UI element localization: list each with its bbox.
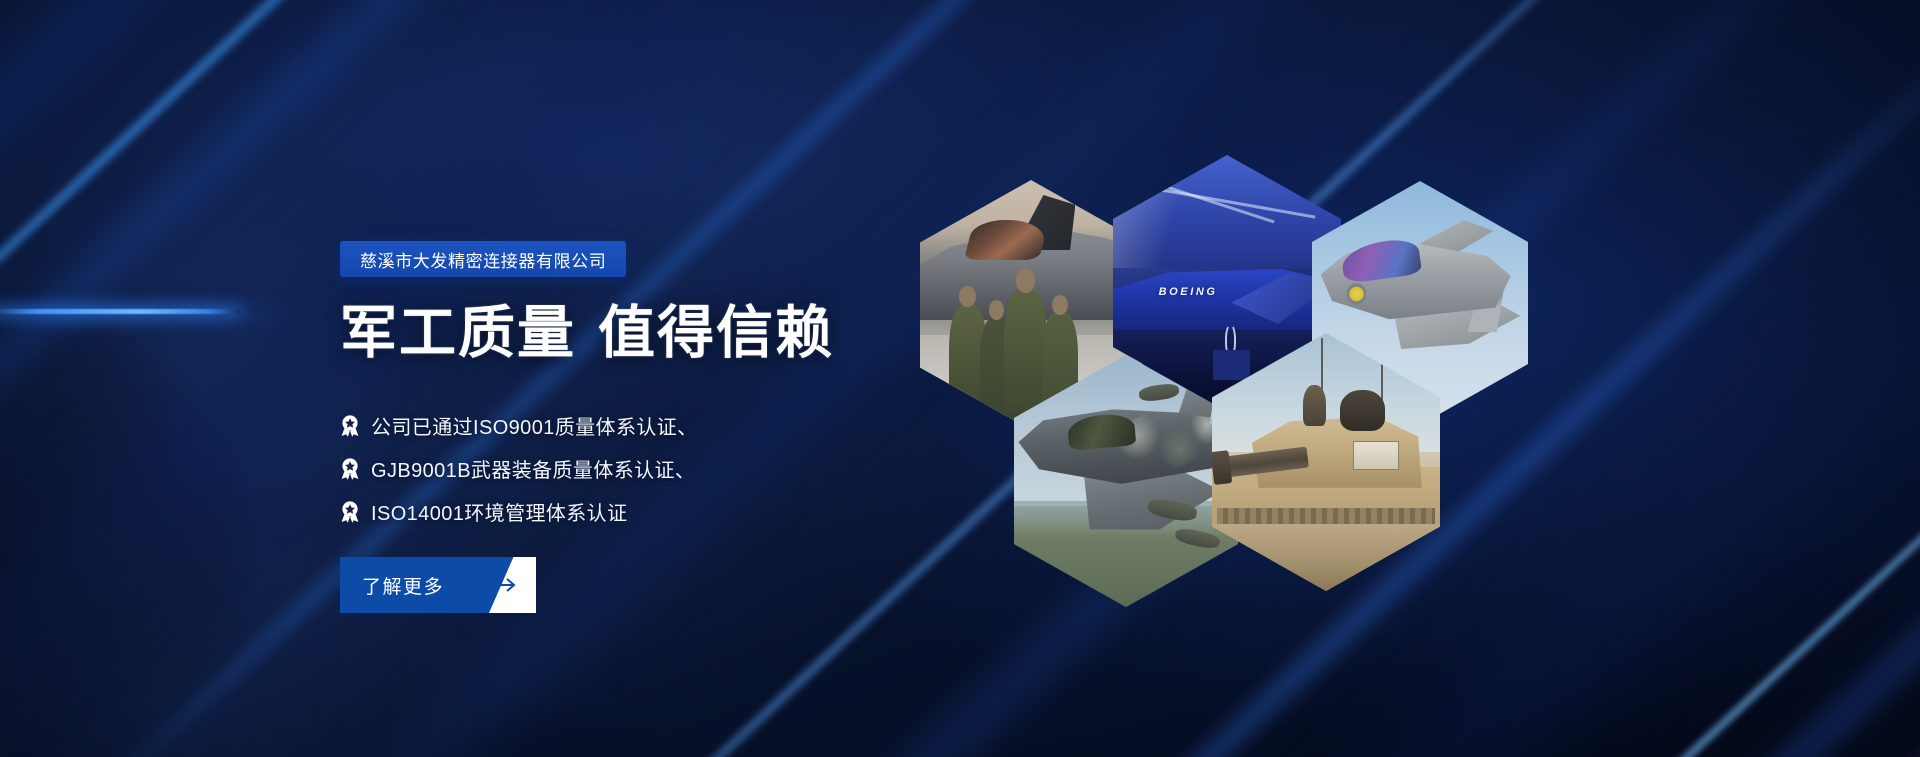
headline-part-1: 军工质量 [340, 301, 576, 365]
horizontal-light-beam [0, 309, 240, 314]
headline-part-2: 值得信赖 [598, 301, 834, 365]
certification-label: 公司已通过ISO9001质量体系认证、 [371, 411, 698, 440]
medal-icon [340, 458, 360, 480]
hero-content: 慈溪市大发精密连接器有限公司 军工质量值得信赖 公司已通过ISO9001质量体系… [340, 0, 1040, 757]
aircraft-stand-shape [1213, 350, 1249, 381]
company-name-badge: 慈溪市大发精密连接器有限公司 [340, 241, 626, 277]
medal-icon [340, 415, 360, 437]
certification-item: GJB9001B武器装备质量体系认证、 [340, 447, 698, 490]
tank-vision-block [1353, 441, 1399, 469]
certification-item: ISO14001环境管理体系认证 [340, 490, 698, 533]
hangar-ceiling-shape [1113, 155, 1341, 268]
hangar-beam [1136, 184, 1316, 219]
certification-label: ISO14001环境管理体系认证 [371, 497, 627, 526]
page-title: 军工质量值得信赖 [340, 303, 834, 365]
tank-side-skirt-shape [1212, 524, 1440, 591]
boeing-logo-text: BOEING [1159, 286, 1218, 298]
tank-crew-figure [1303, 385, 1326, 426]
hangar-beam [1199, 155, 1327, 162]
arrow-right-icon [474, 557, 520, 613]
learn-more-button[interactable]: 了解更多 [340, 557, 536, 613]
medal-icon [340, 501, 360, 523]
certification-item: 公司已通过ISO9001质量体系认证、 [340, 404, 698, 447]
tank-hatch-shape [1340, 390, 1386, 431]
certification-label: GJB9001B武器装备质量体系认证、 [371, 454, 695, 483]
certification-list: 公司已通过ISO9001质量体系认证、 GJB9001B武器装备质量体系认证、 … [340, 404, 698, 533]
hero-banner: BOEING [0, 0, 1920, 757]
learn-more-label: 了解更多 [362, 557, 444, 613]
